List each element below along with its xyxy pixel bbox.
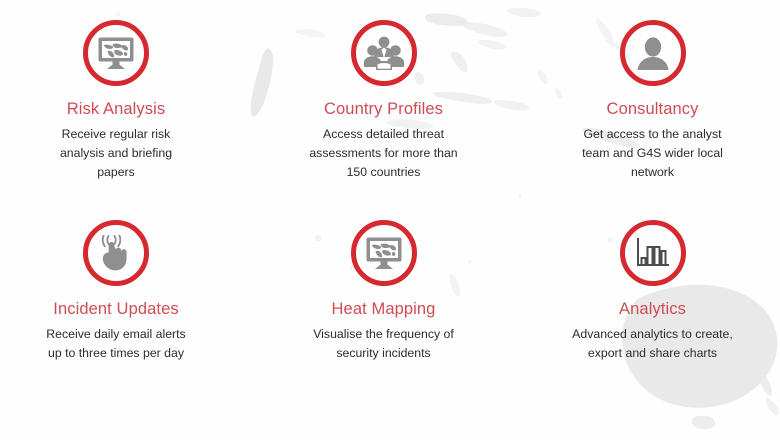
- feature-card-consultancy[interactable]: Consultancy Get access to the analyst te…: [525, 20, 780, 220]
- group-people-icon: [364, 36, 404, 70]
- feature-card-analytics[interactable]: Analytics Advanced analytics to create, …: [525, 220, 780, 420]
- card-title: Risk Analysis: [67, 100, 166, 118]
- card-title: Analytics: [619, 300, 686, 318]
- icon-ring-heat-mapping: [351, 220, 417, 286]
- icon-ring-consultancy: [620, 20, 686, 86]
- card-title: Heat Mapping: [332, 300, 436, 318]
- card-description: Advanced analytics to create, export and…: [571, 325, 735, 363]
- icon-ring-country-profiles: [351, 20, 417, 86]
- card-description: Receive regular risk analysis and briefi…: [41, 125, 191, 182]
- monitor-world-map-icon: [97, 36, 135, 70]
- card-title: Incident Updates: [53, 300, 178, 318]
- features-grid: Risk Analysis Receive regular risk analy…: [0, 0, 780, 440]
- icon-ring-analytics: [620, 220, 686, 286]
- card-title: Country Profiles: [324, 100, 443, 118]
- feature-card-country-profiles[interactable]: Country Profiles Access detailed threat …: [247, 20, 520, 220]
- card-description: Access detailed threat assessments for m…: [302, 125, 466, 182]
- feature-card-incident-updates[interactable]: Incident Updates Receive daily email ale…: [0, 220, 260, 420]
- hand-tap-icon: [99, 235, 133, 271]
- icon-ring-incident-updates: [83, 220, 149, 286]
- card-description: Get access to the analyst team and G4S w…: [571, 125, 735, 182]
- card-description: Visualise the frequency of security inci…: [302, 325, 466, 363]
- feature-card-heat-mapping[interactable]: Heat Mapping Visualise the frequency of …: [247, 220, 520, 420]
- monitor-heatmap-icon: [365, 236, 403, 270]
- person-silhouette-icon: [636, 36, 670, 70]
- card-title: Consultancy: [607, 100, 699, 118]
- card-description: Receive daily email alerts up to three t…: [41, 325, 191, 363]
- feature-card-risk-analysis[interactable]: Risk Analysis Receive regular risk analy…: [0, 20, 260, 220]
- icon-ring-risk-analysis: [83, 20, 149, 86]
- feature-grid-page: Risk Analysis Receive regular risk analy…: [0, 0, 780, 440]
- bar-chart-icon: [635, 237, 671, 269]
